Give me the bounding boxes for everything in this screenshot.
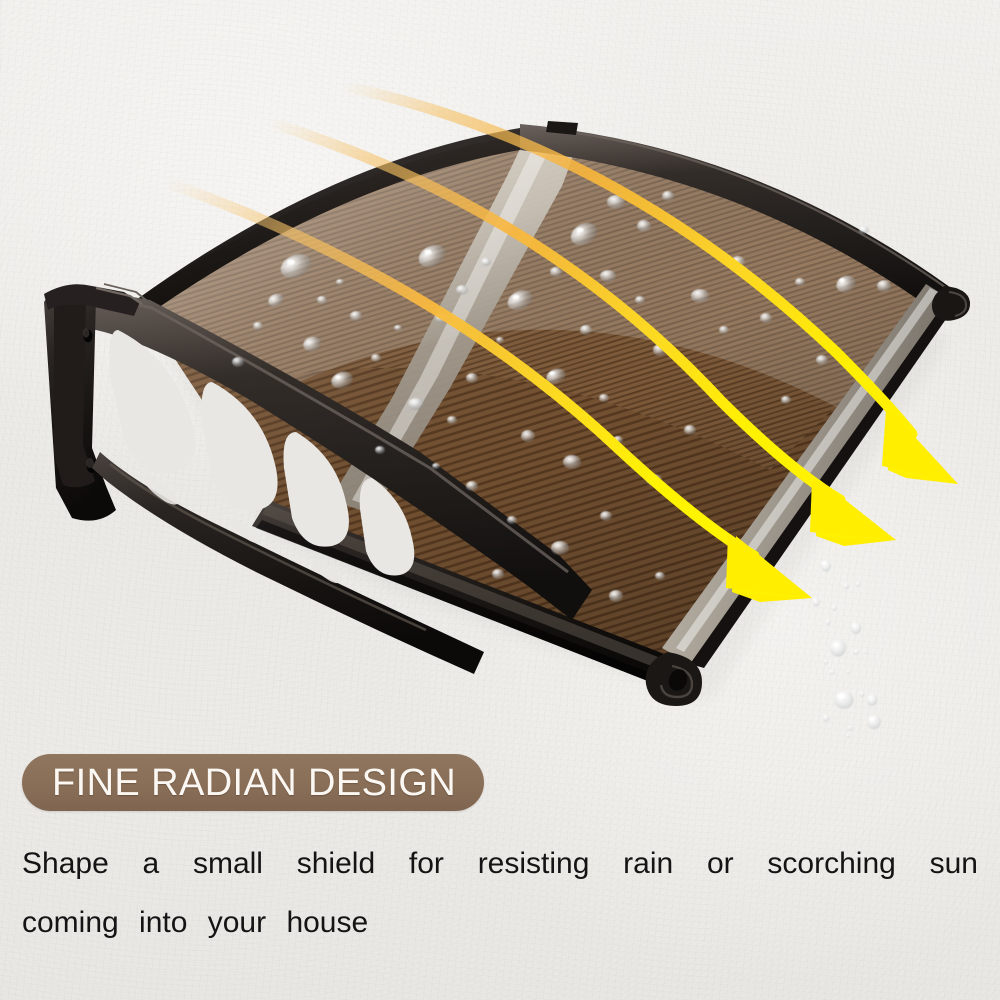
word: rain [623, 834, 673, 893]
word: small [193, 834, 263, 893]
word: scorching [767, 834, 895, 893]
feature-badge: FINE RADIAN DESIGN [22, 754, 484, 811]
word: a [143, 834, 160, 893]
falling-water-droplets [812, 560, 881, 738]
word: or [707, 834, 734, 893]
word: shield [297, 834, 375, 893]
feature-badge-label: FINE RADIAN DESIGN [52, 764, 456, 802]
description-line-1: Shape a small shield for resisting rain … [22, 834, 978, 893]
word: for [409, 834, 444, 893]
description-line-2: coming into your house [22, 893, 980, 952]
product-image-canvas: FINE RADIAN DESIGN Shape a small shield … [0, 0, 1000, 1000]
word: resisting [478, 834, 590, 893]
feature-description: Shape a small shield for resisting rain … [22, 834, 980, 952]
word: Shape [22, 834, 109, 893]
word: sun [930, 834, 978, 893]
caption-block: FINE RADIAN DESIGN Shape a small shield … [0, 742, 1000, 1000]
